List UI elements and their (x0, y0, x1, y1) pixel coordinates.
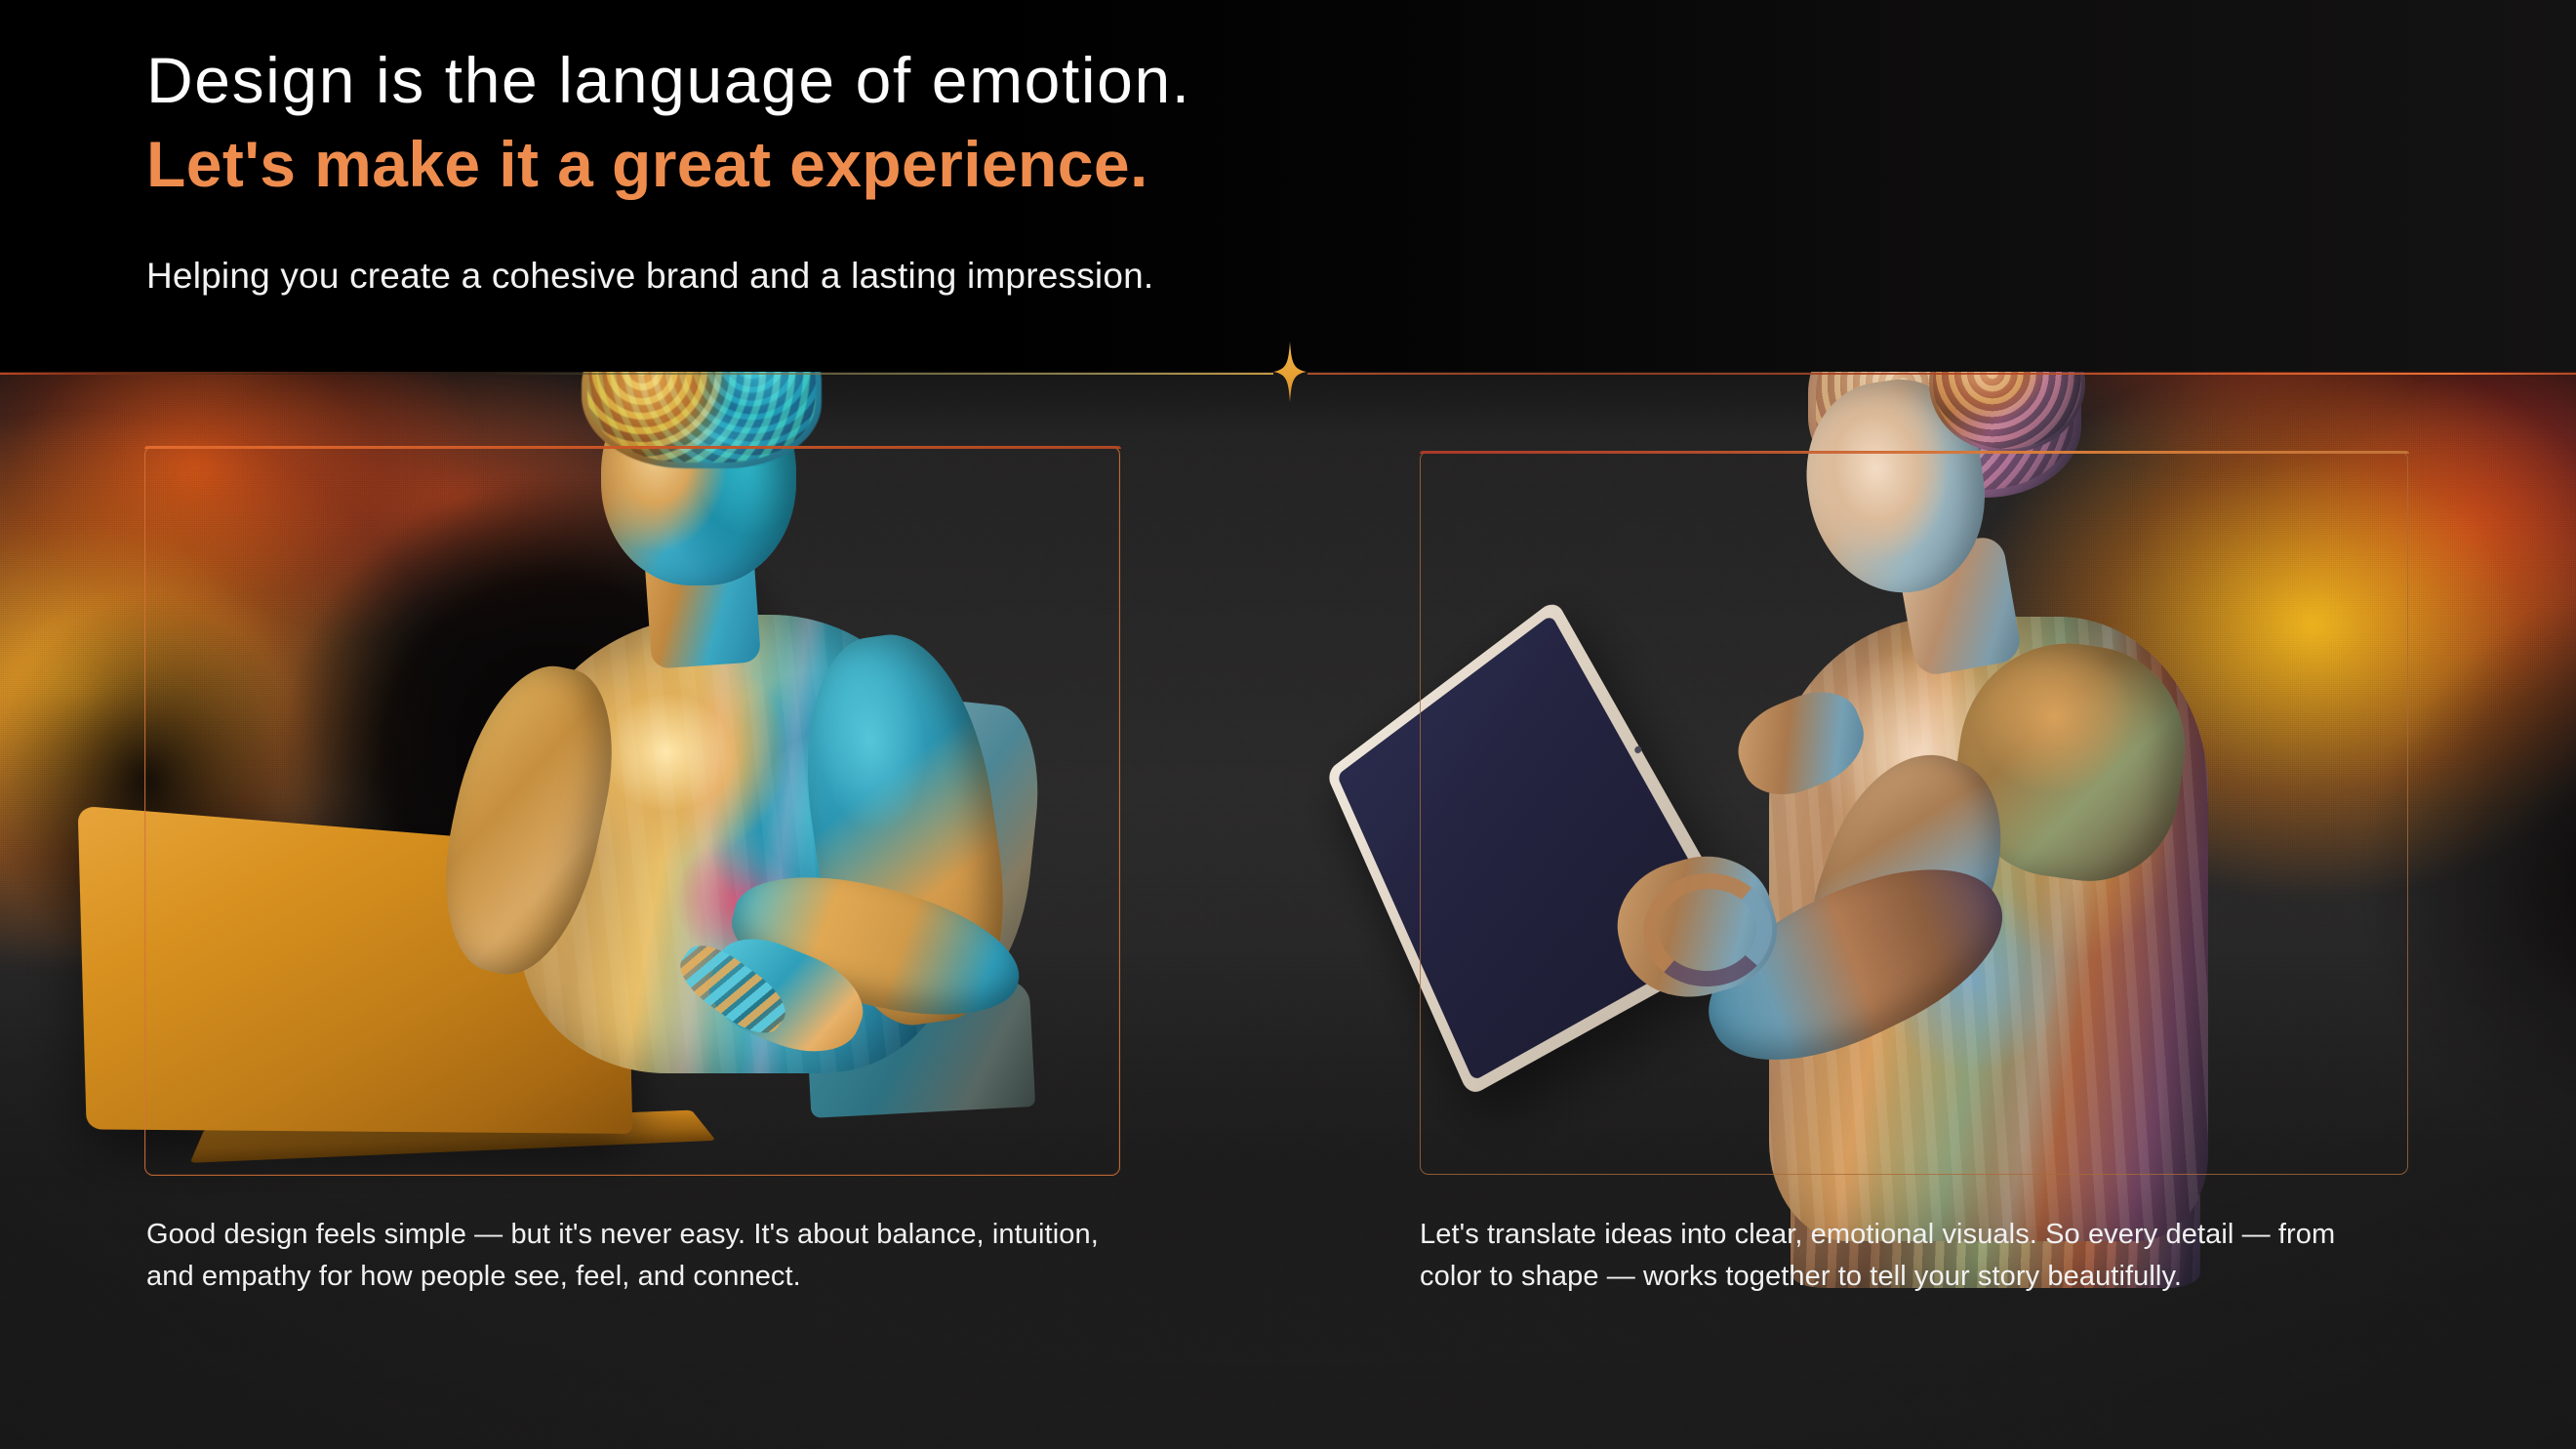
slide-stage: Design is the language of emotion. Let's… (0, 0, 2576, 1449)
caption-left: Good design feels simple — but it's neve… (146, 1214, 1142, 1298)
caption-right: Let's translate ideas into clear, emotio… (1420, 1214, 2395, 1298)
divider-rule-right (1308, 373, 2576, 375)
section-divider (0, 361, 2576, 386)
image-card-right[interactable] (1420, 451, 2408, 1175)
headline-accent: Let's make it a great experience. (146, 129, 1191, 201)
header-section: Design is the language of emotion. Let's… (0, 0, 2576, 372)
divider-rule-left (0, 373, 1273, 375)
image-card-left[interactable] (144, 446, 1120, 1176)
sparkle-star-icon (1273, 342, 1307, 402)
header-text-block: Design is the language of emotion. Let's… (146, 45, 1191, 297)
headline-primary: Design is the language of emotion. (146, 45, 1191, 117)
subtitle: Helping you create a cohesive brand and … (146, 256, 1191, 297)
